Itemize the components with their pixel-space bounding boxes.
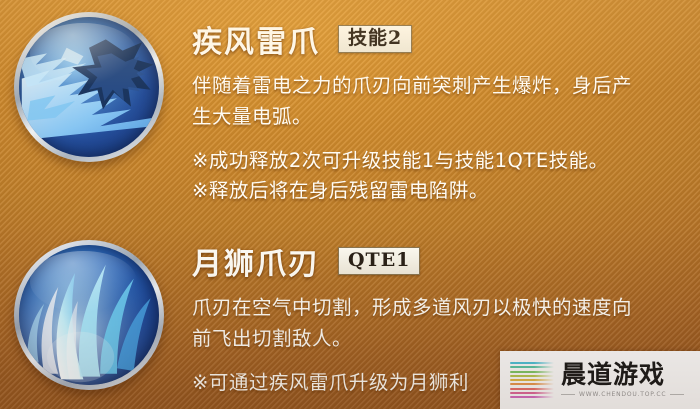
watermark-bar [510,392,554,394]
watermark-bar [510,383,554,385]
watermark-bar [510,388,554,390]
rule-left [561,394,575,395]
skill-1-badge: 技能2 [338,25,412,54]
skill-2-badge: QTE1 [338,247,420,276]
skill-1-note: ※成功释放2次可升级技能1与技能1QTE技能。 [192,146,700,176]
skill-2-title-row: 月狮爪刃 QTE1 [192,240,700,282]
skill-1-description: 伴随着雷电之力的爪刃向前突刺产生爆炸，身后产 生大量电弧。 [192,70,700,132]
watermark-bar [510,375,554,377]
watermark-bar [510,366,554,368]
watermark-url-row: WWW.CHENDOU.TOP.CC [561,391,684,398]
icon-disc [19,17,159,157]
watermark-gradient-bars-icon [510,362,554,398]
skill-1-notes: ※成功释放2次可升级技能1与技能1QTE技能。 ※释放后将在身后残留雷电陷阱。 [192,146,700,206]
skill-2-description-line: 爪刃在空气中切割，形成多道风刃以极快的速度向 [192,292,700,323]
icon-disc [19,245,159,385]
skill-2-description-line: 前飞出切割敌人。 [192,323,700,354]
moon-lion-claw-blade-skill-icon[interactable] [14,240,164,390]
skill-1-description-line: 生大量电弧。 [192,101,700,132]
skill-1-text-block: 疾风雷爪 技能2 伴随着雷电之力的爪刃向前突刺产生爆炸，身后产 生大量电弧。 ※… [192,18,700,206]
skill-2-description: 爪刃在空气中切割，形成多道风刃以极快的速度向 前飞出切割敌人。 [192,292,700,354]
skill-1-note: ※释放后将在身后残留雷电陷阱。 [192,176,700,206]
watermark-bar [510,371,554,373]
icon-rim [14,12,164,162]
lightning-claw-art [19,17,159,157]
skill-1-description-line: 伴随着雷电之力的爪刃向前突刺产生爆炸，身后产 [192,70,700,101]
watermark-url: WWW.CHENDOU.TOP.CC [579,391,666,398]
site-watermark: 晨道游戏 WWW.CHENDOU.TOP.CC [500,351,700,409]
watermark-bar [510,379,554,381]
watermark-text-group: 晨道游戏 WWW.CHENDOU.TOP.CC [561,362,684,398]
rule-right [670,394,684,395]
watermark-bar [510,362,554,364]
icon-rim [14,240,164,390]
skill-1-title-row: 疾风雷爪 技能2 [192,18,700,60]
skill-info-panel: 疾风雷爪 技能2 伴随着雷电之力的爪刃向前突刺产生爆炸，身后产 生大量电弧。 ※… [0,0,700,409]
lightning-claw-skill-icon[interactable] [14,12,164,162]
wind-blade-art [19,245,159,385]
skill-2-title: 月狮爪刃 [192,239,320,283]
watermark-bar [510,396,554,398]
watermark-brand: 晨道游戏 [561,362,684,387]
skill-1-title: 疾风雷爪 [192,17,320,61]
